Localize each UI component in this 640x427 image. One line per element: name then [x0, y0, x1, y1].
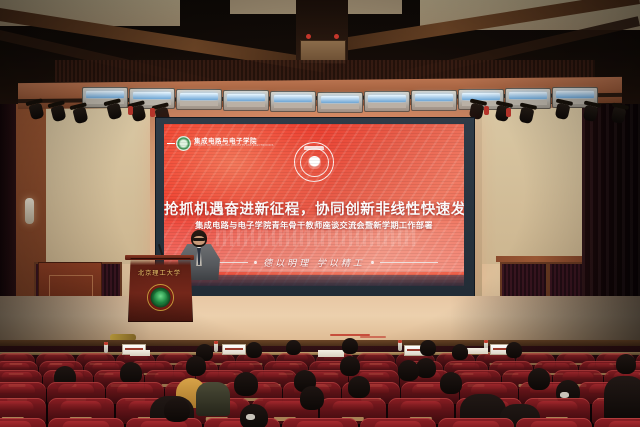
fixture-lamp — [321, 96, 359, 103]
water-bottle — [214, 341, 218, 352]
light-fixture — [411, 90, 457, 111]
audience-person — [234, 372, 258, 396]
seat-cushion — [83, 354, 107, 359]
podium-seal-icon — [147, 284, 174, 311]
bottle-cap — [214, 341, 218, 344]
audience-seat[interactable] — [48, 418, 124, 427]
fixture-lamp — [368, 95, 406, 102]
stage-cable-secondary — [360, 336, 386, 338]
face-mask — [560, 392, 569, 398]
audience-person — [398, 360, 419, 381]
spotlight-red-gel — [128, 106, 133, 115]
auditorium-photo: 集成电路与电子学院 SCHOOL OF INTEGRATED CIRCUITS … — [0, 0, 640, 427]
seat-cushion — [362, 363, 389, 369]
seat-cushion — [363, 354, 387, 359]
audience-person — [164, 398, 190, 422]
audience-person — [416, 358, 436, 378]
seat-cushion — [471, 384, 507, 392]
audience-seat[interactable] — [594, 418, 640, 427]
seat-cushion — [257, 372, 288, 379]
audience-person — [420, 340, 436, 356]
stage-shadow-right — [450, 296, 640, 346]
seat-cushion — [542, 363, 569, 369]
spotlight-red-gel — [150, 108, 155, 117]
seat-cushion — [537, 401, 578, 411]
audience-person — [452, 344, 468, 360]
spotlight-red-gel — [484, 106, 489, 115]
bottle-cap — [484, 340, 488, 343]
seat-cushion — [452, 421, 499, 427]
name-card — [222, 344, 246, 355]
light-fixture — [317, 92, 363, 113]
document-paper — [318, 350, 344, 357]
audience-person — [348, 376, 370, 398]
audience-person — [506, 342, 522, 358]
audience-person-coat — [196, 382, 230, 416]
face-mask — [246, 414, 255, 420]
light-fixture — [176, 89, 222, 110]
audience-person — [342, 338, 358, 354]
fixture-lamp — [462, 93, 500, 100]
seat-cushion — [0, 384, 35, 392]
audience-seat[interactable] — [0, 418, 46, 427]
seat-cushion — [2, 363, 29, 369]
bottle-cap — [398, 340, 402, 343]
seat-cushion — [43, 354, 67, 359]
fixture-body — [180, 101, 218, 106]
fixture-lamp — [415, 94, 453, 101]
seat-cushion — [137, 363, 164, 369]
seat-cushion — [563, 372, 594, 379]
seat-cushion — [163, 354, 187, 359]
document-paper — [130, 350, 150, 356]
speaker-glasses — [193, 238, 205, 241]
water-bottle — [104, 342, 108, 353]
seat-cushion — [530, 421, 577, 427]
name-card-text-line — [225, 348, 243, 350]
seat-cushion — [608, 421, 640, 427]
seat-cushion — [587, 363, 614, 369]
seat-cushion — [497, 363, 524, 369]
spotlight-red-gel — [506, 108, 511, 117]
audience-person — [440, 372, 462, 394]
wall-panel-right — [478, 108, 588, 264]
seat-cushion — [483, 354, 507, 359]
seat-cushion — [283, 354, 307, 359]
seat-cushion — [333, 401, 374, 411]
seat-cushion — [563, 354, 587, 359]
seat-cushion — [206, 372, 237, 379]
seat-cushion — [61, 401, 102, 411]
audience-seat[interactable] — [516, 418, 592, 427]
water-bottle — [398, 340, 402, 351]
seat-cushion — [0, 401, 33, 411]
audience-seat[interactable] — [282, 418, 358, 427]
audience-person — [120, 362, 142, 384]
audience-person — [604, 376, 640, 420]
audience-seat[interactable] — [360, 418, 436, 427]
audience-person — [186, 356, 206, 376]
fixture-body — [321, 104, 359, 109]
wall-skirt-right — [496, 256, 596, 262]
fixture-lamp — [227, 94, 265, 101]
bottle-cap — [104, 342, 108, 345]
seat-cushion — [92, 363, 119, 369]
light-fixture — [223, 90, 269, 111]
audience-person — [286, 340, 301, 355]
seat-cushion — [155, 372, 186, 379]
seat-cushion — [117, 384, 153, 392]
seat-cushion — [452, 363, 479, 369]
fixture-lamp — [556, 91, 594, 98]
fixture-body — [415, 102, 453, 107]
light-fixture — [270, 91, 316, 112]
seat-cushion — [296, 421, 343, 427]
seat-cushion — [58, 384, 94, 392]
seat-cushion — [374, 421, 421, 427]
fixture-body — [368, 103, 406, 108]
document-paper — [466, 348, 488, 354]
audience-person — [340, 356, 360, 376]
audience-person — [300, 386, 324, 410]
podium-institution-text: 北京理工大学 — [128, 268, 191, 277]
wall-panel-left — [46, 108, 150, 264]
podium-seal-center — [154, 291, 167, 304]
wall-sconce-left — [25, 198, 34, 224]
seat-cushion — [401, 401, 442, 411]
fixture-lamp — [133, 92, 171, 99]
fixture-lamp — [180, 93, 218, 100]
fixture-lamp — [509, 92, 547, 99]
seat-cushion — [62, 421, 109, 427]
audience-seat[interactable] — [126, 418, 202, 427]
audience-person — [246, 342, 262, 358]
fixture-lamp — [274, 95, 312, 102]
fixture-body — [274, 103, 312, 108]
seat-cushion — [2, 372, 33, 379]
audience-person — [528, 368, 550, 390]
seat-cushion — [3, 354, 27, 359]
seat-cushion — [272, 363, 299, 369]
audience-seat[interactable] — [438, 418, 514, 427]
seat-cushion — [523, 354, 547, 359]
seat-cushion — [0, 421, 32, 427]
audience-person — [616, 354, 636, 374]
seat-cushion — [461, 372, 492, 379]
fixture-lamp — [86, 91, 124, 98]
seat-cushion — [227, 363, 254, 369]
fixture-body — [227, 102, 265, 107]
light-fixture — [364, 91, 410, 112]
